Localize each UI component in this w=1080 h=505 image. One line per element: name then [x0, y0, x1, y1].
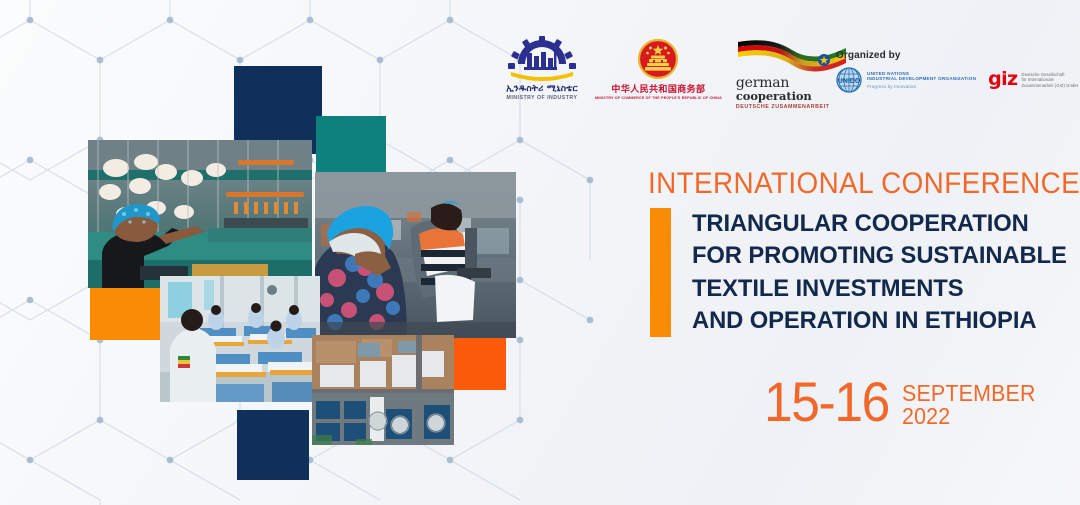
decorative-square-orange-mid	[452, 338, 506, 390]
organized-by-label: Organized by	[836, 50, 1078, 61]
decorative-square-navy-bottom	[237, 410, 309, 480]
event-date: 15-16 SEPTEMBER 2022	[764, 378, 1045, 429]
logo-ministry-of-industry: ኢንዱስትሪ ሚኒስቴር MINISTRY OF INDUSTRY	[505, 36, 579, 101]
event-date-year: 2022	[902, 405, 1036, 428]
unido-tagline: Progress by Innovation	[867, 84, 976, 89]
title-accent-bar	[650, 208, 671, 337]
organized-by-block: Organized by UNIDO	[836, 50, 1078, 93]
moi-amharic-label: ኢንዱስትሪ ሚኒስቴር	[506, 85, 577, 94]
german-coop-line2: cooperation	[736, 90, 848, 102]
gear-factory-icon	[505, 36, 579, 84]
logo-german-cooperation: german cooperation DEUTSCHE ZUSAMMENARBE…	[736, 36, 848, 110]
decorative-square-teal	[316, 116, 386, 178]
moi-english-label: MINISTRY OF INDUSTRY	[506, 96, 577, 101]
title-line-2: FOR PROMOTING SUSTAINABLE	[692, 240, 1067, 272]
logo-giz: giz Deutsche Gesellschaft für Internatio…	[988, 72, 1078, 87]
conference-kicker: INTERNATIONAL CONFERENCE ON	[648, 167, 1080, 201]
logo-unido: UNIDO UNITED NATIONS INDUSTRIAL DEVELOPM…	[836, 67, 976, 93]
photo-sewing-masked	[315, 172, 516, 338]
unido-line2: INDUSTRIAL DEVELOPMENT ORGANIZATION	[867, 76, 976, 81]
german-ethiopian-flag-ribbon-icon	[736, 36, 848, 78]
event-date-days: 15-16	[764, 378, 889, 426]
unido-globe-icon: UNIDO	[836, 67, 862, 93]
title-lines: TRIANGULAR COOPERATION FOR PROMOTING SUS…	[692, 208, 1067, 337]
photo-knitting	[88, 140, 312, 288]
title-line-4: AND OPERATION IN ETHIOPIA	[692, 305, 1067, 337]
german-coop-line1: german	[736, 76, 848, 90]
title-line-1: TRIANGULAR COOPERATION	[692, 208, 1067, 240]
mofcom-english-label: MINISTRY OF COMMERCE OF THE PEOPLE'S REP…	[595, 97, 722, 101]
giz-line3: Zusammenarbeit (GIZ) GmbH	[1022, 83, 1079, 88]
partner-logos: ኢንዱስትሪ ሚኒስቴር MINISTRY OF INDUSTRY	[505, 36, 848, 108]
china-national-emblem-icon	[634, 36, 682, 84]
event-date-month: SEPTEMBER	[902, 382, 1036, 405]
german-coop-line3: DEUTSCHE ZUSAMMENARBEIT	[736, 104, 848, 110]
title-line-3: TEXTILE INVESTMENTS	[692, 273, 1067, 305]
giz-wordmark: giz	[988, 72, 1017, 87]
conference-banner: ኢንዱስትሪ ሚኒስቴር MINISTRY OF INDUSTRY	[0, 0, 1080, 505]
photo-factory-floor	[160, 276, 320, 402]
photo-aerial	[312, 335, 454, 445]
svg-text:UNIDO: UNIDO	[838, 78, 861, 85]
mofcom-chinese-label: 中华人民共和国商务部	[595, 86, 722, 95]
conference-title: TRIANGULAR COOPERATION FOR PROMOTING SUS…	[650, 208, 1078, 337]
logo-mofcom-china: 中华人民共和国商务部 MINISTRY OF COMMERCE OF THE P…	[595, 36, 722, 101]
